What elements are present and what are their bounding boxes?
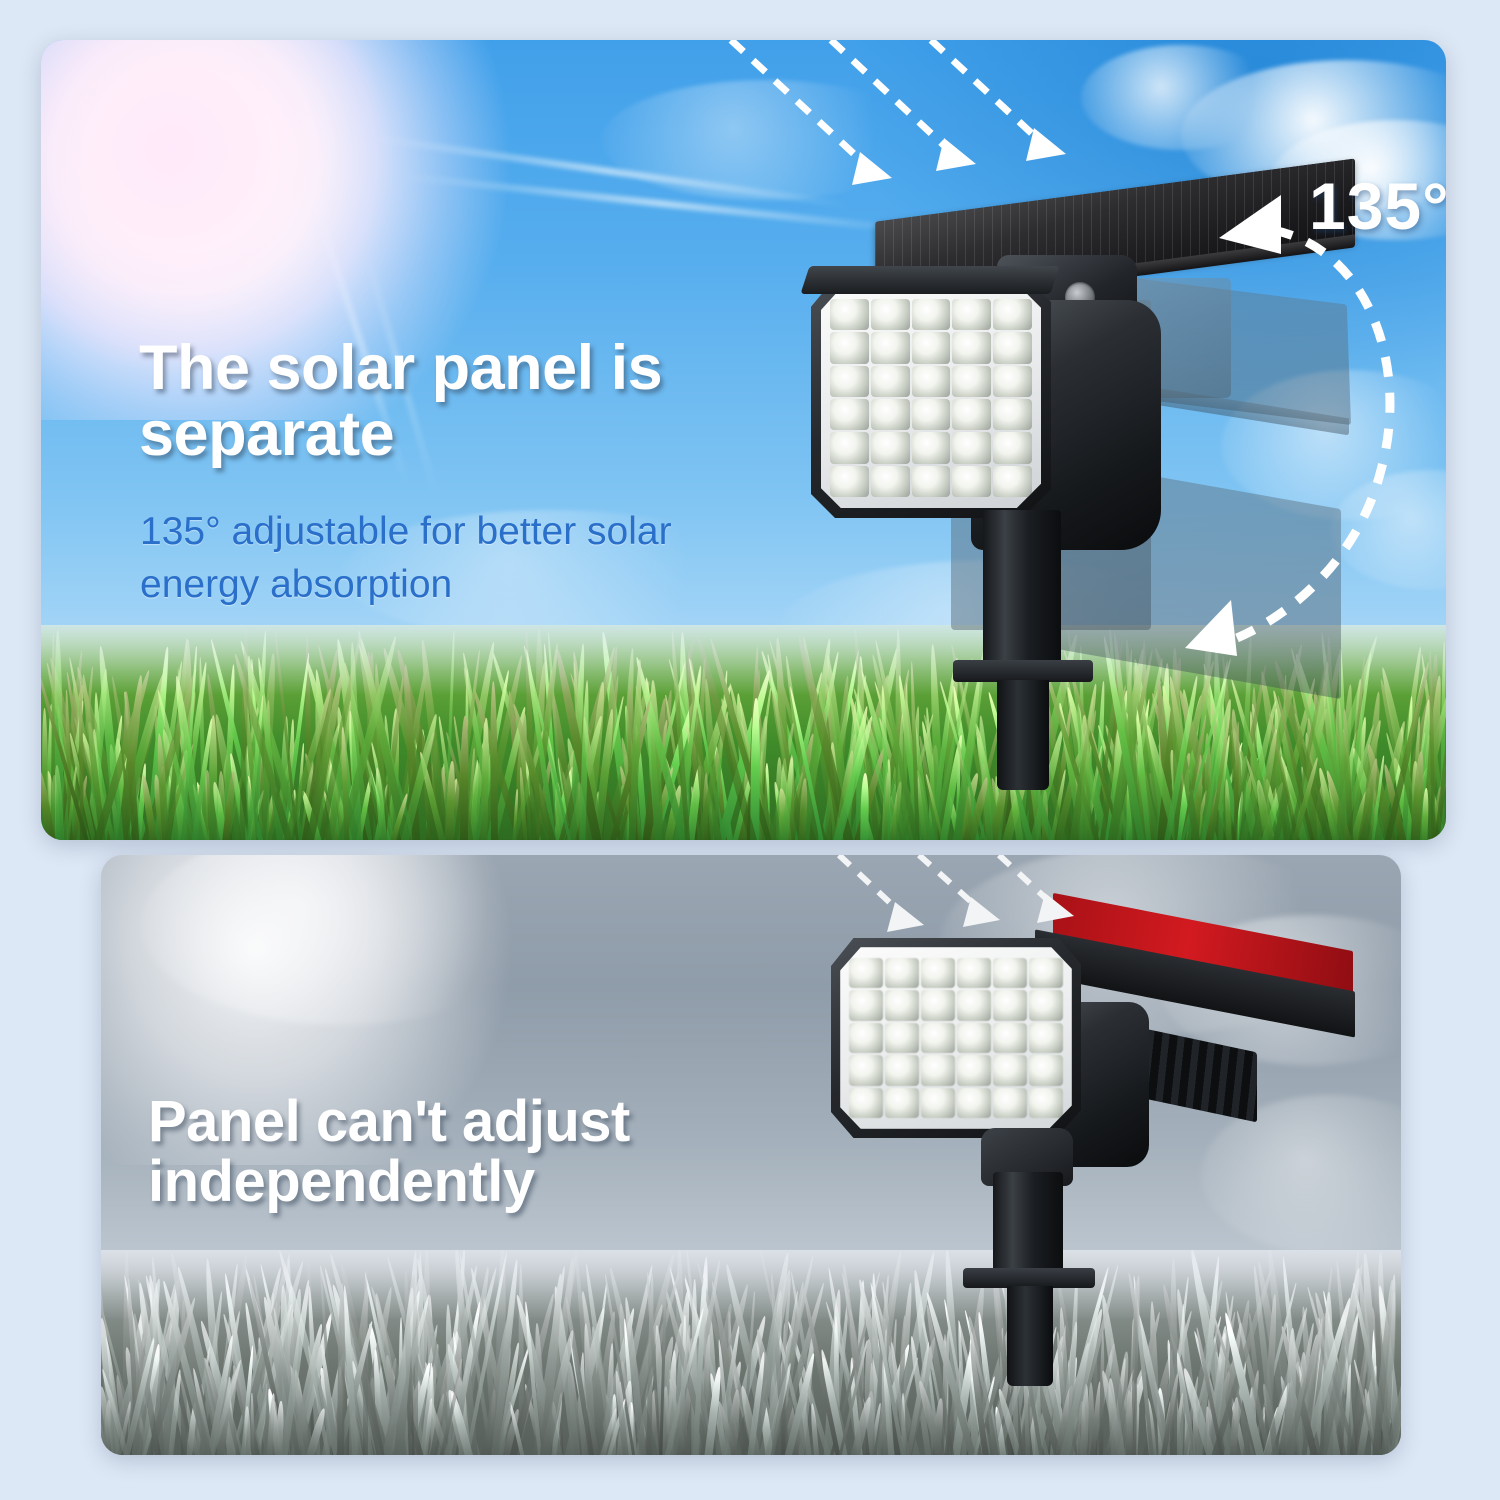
led-dot	[957, 990, 991, 1020]
led-dot	[885, 1055, 919, 1085]
led-dot	[1029, 1023, 1063, 1053]
page-title-top: The solar panel is separate	[139, 336, 839, 467]
led-dot	[885, 990, 919, 1020]
led-dot	[885, 1088, 919, 1118]
led-dot	[912, 366, 951, 397]
mount-pole	[983, 510, 1061, 680]
led-dot	[993, 466, 1032, 497]
led-dot	[952, 399, 991, 430]
led-dot	[921, 990, 955, 1020]
led-dot	[993, 1055, 1027, 1085]
led-dot	[912, 466, 951, 497]
led-dot	[957, 1023, 991, 1053]
grass-blade	[490, 681, 498, 840]
led-dot	[957, 1055, 991, 1085]
page-title-bottom: Panel can't adjust independently	[148, 1092, 848, 1213]
led-dot	[849, 1023, 883, 1053]
led-dot	[912, 432, 951, 463]
led-dot	[993, 990, 1027, 1020]
panel-card-top: The solar panel is separate 135° adjusta…	[41, 40, 1446, 840]
led-dot	[830, 466, 869, 497]
led-head	[831, 938, 1081, 1138]
led-dot	[871, 366, 910, 397]
led-dot	[993, 332, 1032, 363]
sun-lens-flare-tint	[41, 40, 401, 370]
led-dot	[921, 1023, 955, 1053]
led-dot	[957, 1088, 991, 1118]
led-dot	[993, 1023, 1027, 1053]
led-dot	[993, 366, 1032, 397]
led-dot	[993, 1088, 1027, 1118]
led-dot	[885, 958, 919, 988]
led-dot	[921, 1088, 955, 1118]
led-dot	[952, 432, 991, 463]
led-dot	[952, 332, 991, 363]
led-dot	[871, 432, 910, 463]
led-dot	[871, 399, 910, 430]
led-dot	[993, 399, 1032, 430]
led-dot	[849, 1055, 883, 1085]
led-head-top-shade	[800, 266, 1059, 294]
led-dot	[849, 990, 883, 1020]
ground-stake	[1007, 1286, 1053, 1386]
led-dot	[993, 299, 1032, 330]
led-dot	[849, 958, 883, 988]
product-solar-spotlight-fixed	[831, 910, 1351, 1390]
led-dot	[830, 299, 869, 330]
led-dot	[912, 332, 951, 363]
led-dot	[1029, 990, 1063, 1020]
led-lens-array	[840, 947, 1072, 1129]
led-dot	[952, 466, 991, 497]
led-lens-array	[821, 288, 1041, 508]
led-dot	[871, 332, 910, 363]
led-dot	[1029, 1055, 1063, 1085]
grass-blade	[460, 716, 469, 840]
led-dot	[1029, 958, 1063, 988]
ground-stake	[997, 680, 1049, 790]
led-dot	[993, 432, 1032, 463]
subtitle-top: 135° adjustable for better solar energy …	[140, 506, 820, 611]
led-dot	[912, 299, 951, 330]
led-dot	[885, 1023, 919, 1053]
led-dot	[952, 366, 991, 397]
led-dot	[993, 958, 1027, 988]
pole-flange	[953, 660, 1093, 682]
infographic-stage: The solar panel is separate 135° adjusta…	[0, 0, 1500, 1500]
pole-flange	[963, 1268, 1095, 1288]
led-dot	[849, 1088, 883, 1118]
led-dot	[871, 299, 910, 330]
led-dot	[912, 399, 951, 430]
angle-label-135: 135°	[1309, 168, 1446, 244]
led-dot	[952, 299, 991, 330]
led-dot	[921, 958, 955, 988]
grass-blade	[860, 773, 869, 840]
panel-card-bottom: Panel can't adjust independently	[101, 855, 1401, 1455]
led-dot	[957, 958, 991, 988]
led-head	[811, 278, 1051, 518]
led-dot	[921, 1055, 955, 1085]
led-dot	[871, 466, 910, 497]
led-dot	[1029, 1088, 1063, 1118]
